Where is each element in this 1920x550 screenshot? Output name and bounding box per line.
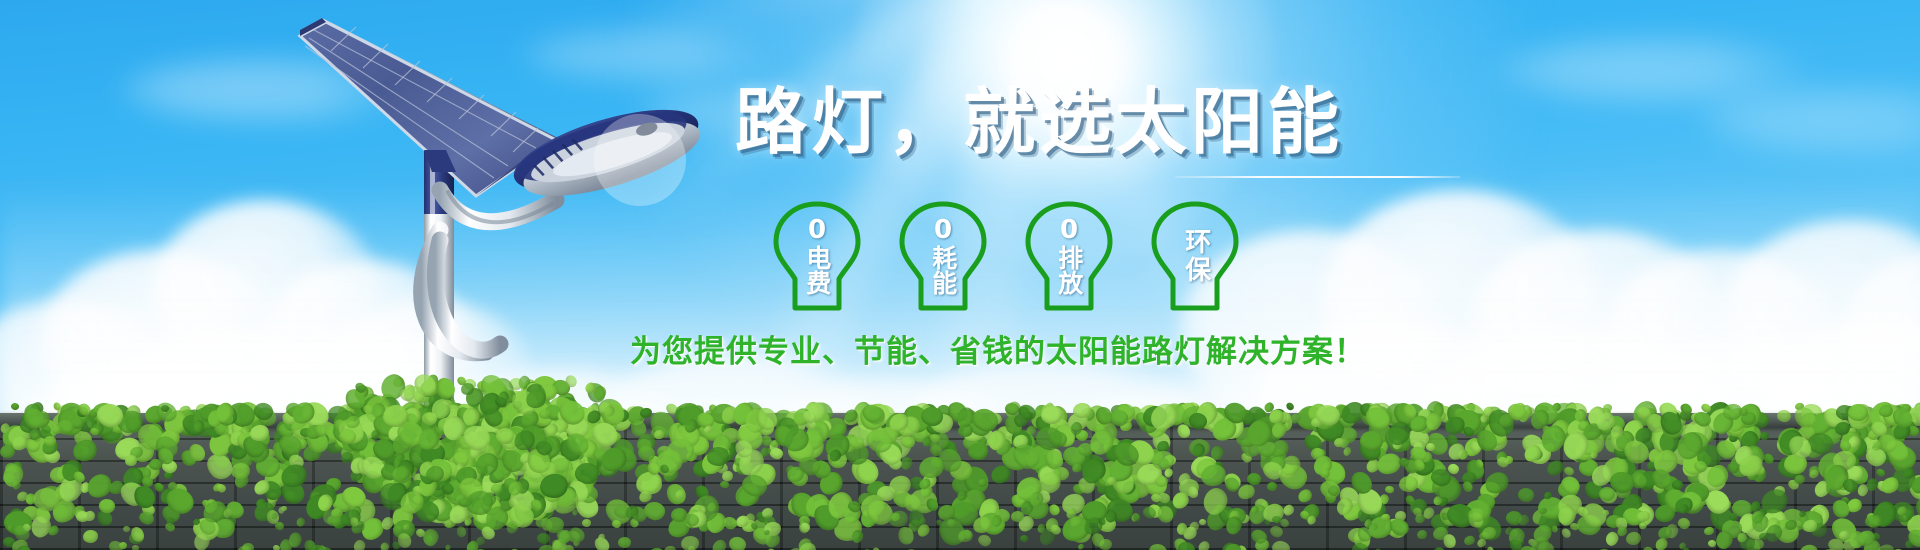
feature-badge-zero: 0 <box>808 217 826 244</box>
feature-badge: 0耗能 <box>896 200 990 312</box>
feature-badge-label: 电费 <box>804 245 830 295</box>
tagline: 为您提供专业、节能、省钱的太阳能路灯解决方案！ <box>630 326 1495 371</box>
feature-badge-zero: 0 <box>1060 217 1078 244</box>
feature-badge-label: 环保 <box>1181 228 1209 284</box>
banner-copy: 路灯，就选太阳能 0电费0耗能0排放环保 为您提供专业、节能、省钱的太阳能路灯解… <box>735 86 1495 371</box>
stone-wall <box>0 422 1920 550</box>
feature-badge-text: 环保 <box>1148 200 1242 312</box>
feature-badge-zero: 0 <box>934 217 952 244</box>
feature-badge-label: 排放 <box>1056 245 1082 295</box>
feature-badge: 0排放 <box>1022 200 1116 312</box>
feature-badge: 0电费 <box>770 200 864 312</box>
feature-badge-list: 0电费0耗能0排放环保 <box>770 200 1495 312</box>
solar-street-light-banner: 路灯，就选太阳能 0电费0耗能0排放环保 为您提供专业、节能、省钱的太阳能路灯解… <box>0 0 1920 550</box>
feature-badge-label: 耗能 <box>930 245 956 295</box>
title-divider <box>1175 176 1460 178</box>
feature-badge-text: 0排放 <box>1022 200 1116 312</box>
page-title: 路灯，就选太阳能 <box>735 86 1495 158</box>
wall-coping <box>0 413 1920 427</box>
feature-badge-text: 0电费 <box>770 200 864 312</box>
feature-badge: 环保 <box>1148 200 1242 312</box>
feature-badge-text: 0耗能 <box>896 200 990 312</box>
